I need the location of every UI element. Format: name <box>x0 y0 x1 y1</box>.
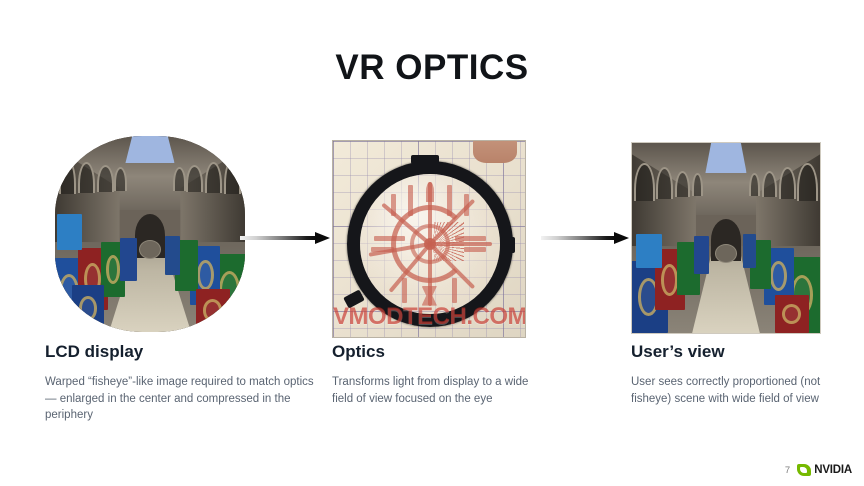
caption-body-users-view: User sees correctly proportioned (not fi… <box>631 374 846 407</box>
flow-arrow-optics-to-eye <box>541 232 629 244</box>
arrow-head-icon <box>614 232 629 244</box>
slide-footer: 7 NVIDIA <box>785 464 852 476</box>
mount-tab-top <box>411 155 439 164</box>
arrow-shaft <box>240 236 316 240</box>
banner-right-4 <box>743 234 756 268</box>
fisheye-render-image <box>55 136 245 332</box>
caption-body-lcd: Warped “fisheye”-like image required to … <box>45 374 315 424</box>
arcade-arches-right <box>55 152 245 203</box>
banner-right-5 <box>196 289 230 332</box>
flow-arrow-display-to-optics <box>240 232 330 244</box>
nvidia-wordmark: NVIDIA <box>814 464 852 476</box>
nvidia-eye-icon <box>797 464 811 476</box>
slide-canvas: VR OPTICS <box>0 0 864 486</box>
banner-left-4 <box>694 236 709 274</box>
lens-photo-image: VMODTECH.COM <box>332 140 526 338</box>
hall-scene-warped <box>55 136 245 332</box>
page-number: 7 <box>785 465 790 476</box>
nvidia-logo: NVIDIA <box>797 464 852 476</box>
banner-left-4 <box>120 238 137 281</box>
reflected-mandala-pattern <box>360 174 500 314</box>
caption-heading-lcd: LCD display <box>45 342 315 362</box>
banner-left-5 <box>72 285 104 332</box>
column-optics: VMODTECH.COM Optics Transforms light fro… <box>332 136 542 407</box>
figure-users-view <box>631 136 846 342</box>
hall-scene-correct <box>632 143 820 333</box>
far-medallion <box>715 244 738 263</box>
banner-right-4 <box>165 236 180 275</box>
lens-glass-surface <box>360 174 500 314</box>
mount-tab-right <box>501 237 515 253</box>
banner-right-5 <box>775 295 809 333</box>
page-title: VR OPTICS <box>0 48 864 88</box>
thumb-holding-lens <box>473 140 517 163</box>
banner-left-6 <box>57 214 82 249</box>
caption-heading-optics: Optics <box>332 342 542 362</box>
figure-optics: VMODTECH.COM <box>332 136 542 342</box>
column-users-view: User’s view User sees correctly proporti… <box>631 136 846 407</box>
arrow-shaft <box>541 236 615 240</box>
column-lcd-display: LCD display Warped “fisheye”-like image … <box>45 136 315 424</box>
banner-left-5 <box>636 234 662 268</box>
arrow-head-icon <box>315 232 330 244</box>
photo-watermark: VMODTECH.COM <box>333 303 525 331</box>
undistorted-render-image <box>631 142 821 334</box>
caption-heading-users-view: User’s view <box>631 342 846 362</box>
caption-body-optics: Transforms light from display to a wide … <box>332 374 542 407</box>
arcade-arches-right <box>632 158 820 207</box>
